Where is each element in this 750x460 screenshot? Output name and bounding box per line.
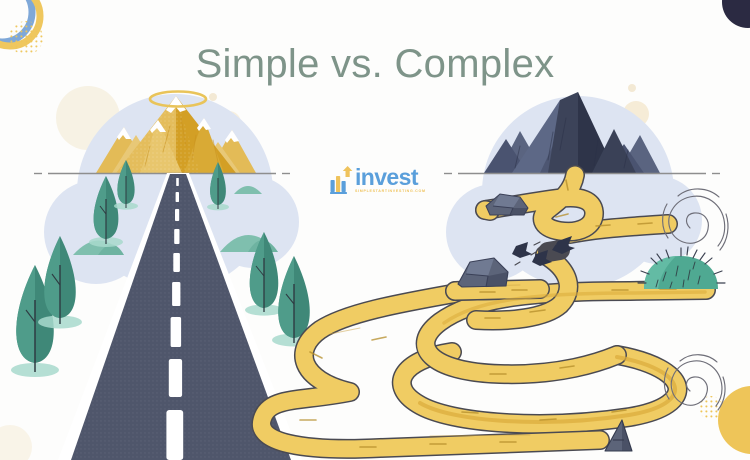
winding-road: [261, 175, 706, 449]
logo-wordmark: invest: [355, 167, 426, 189]
rock-boulder: [458, 258, 508, 287]
right-scene-complex-road: [261, 92, 728, 451]
brand-logo[interactable]: invest SIMPLESTARTINVESTING.COM: [330, 158, 430, 202]
illustration-canvas: Simple vs. Complex invest SIMPLESTARTINV…: [0, 0, 750, 460]
bar-chart-arrow-icon: [330, 166, 354, 194]
cactus-bush: [638, 247, 725, 289]
golden-mountain: [96, 92, 256, 174]
page-title: Simple vs. Complex: [0, 42, 750, 87]
logo-tagline: SIMPLESTARTINVESTING.COM: [355, 190, 426, 194]
dark-mountain: [484, 92, 660, 173]
